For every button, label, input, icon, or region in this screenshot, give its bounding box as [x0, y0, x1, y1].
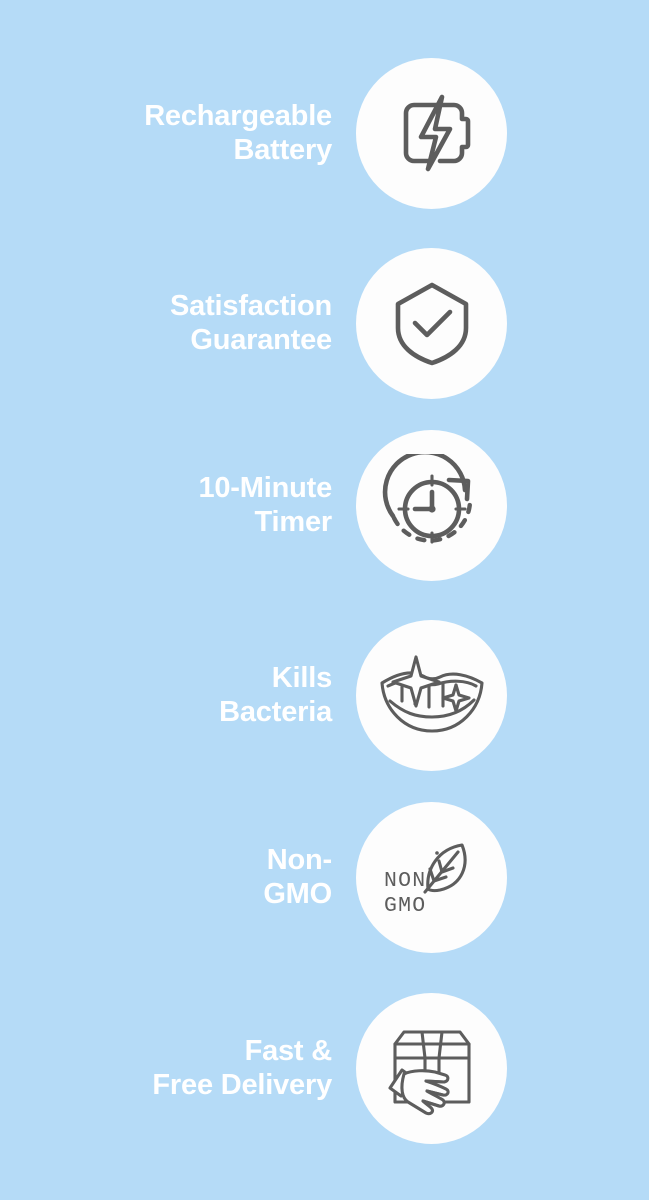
- benefit-row: Satisfaction Guarantee: [0, 248, 649, 398]
- package-hand-delivery-icon: [382, 1018, 482, 1118]
- benefit-row: Fast & Free Delivery: [0, 993, 649, 1143]
- benefit-icon-circle: [356, 430, 507, 581]
- battery-charging-icon: [384, 85, 480, 181]
- shield-check-icon: [384, 275, 480, 371]
- benefit-label: Rechargeable Battery: [0, 99, 345, 167]
- benefit-label: 10-Minute Timer: [0, 471, 345, 539]
- non-gmo-leaf-icon: NON GMO: [380, 825, 484, 929]
- non-gmo-text-line1: NON: [384, 869, 426, 893]
- benefit-icon-circle: [356, 248, 507, 399]
- benefit-label: Non- GMO: [0, 843, 345, 911]
- benefit-icon-circle: [356, 58, 507, 209]
- benefit-row: 10-Minute Timer: [0, 430, 649, 580]
- benefit-icon-circle: [356, 620, 507, 771]
- benefit-label: Kills Bacteria: [0, 661, 345, 729]
- benefit-label: Satisfaction Guarantee: [0, 289, 345, 357]
- benefit-row: Rechargeable Battery: [0, 58, 649, 208]
- smiling-teeth-sparkle-icon: [376, 639, 488, 751]
- clock-timer-arrow-icon: [381, 454, 483, 556]
- benefit-label: Fast & Free Delivery: [0, 1034, 345, 1102]
- non-gmo-text-line2: GMO: [384, 894, 426, 918]
- benefit-row: Non- GMO NON GMO: [0, 802, 649, 952]
- benefits-panel: Rechargeable Battery Satisfaction Guaran…: [0, 0, 649, 1200]
- benefit-icon-circle: NON GMO: [356, 802, 507, 953]
- benefit-icon-circle: [356, 993, 507, 1144]
- benefit-row: Kills Bacteria: [0, 620, 649, 770]
